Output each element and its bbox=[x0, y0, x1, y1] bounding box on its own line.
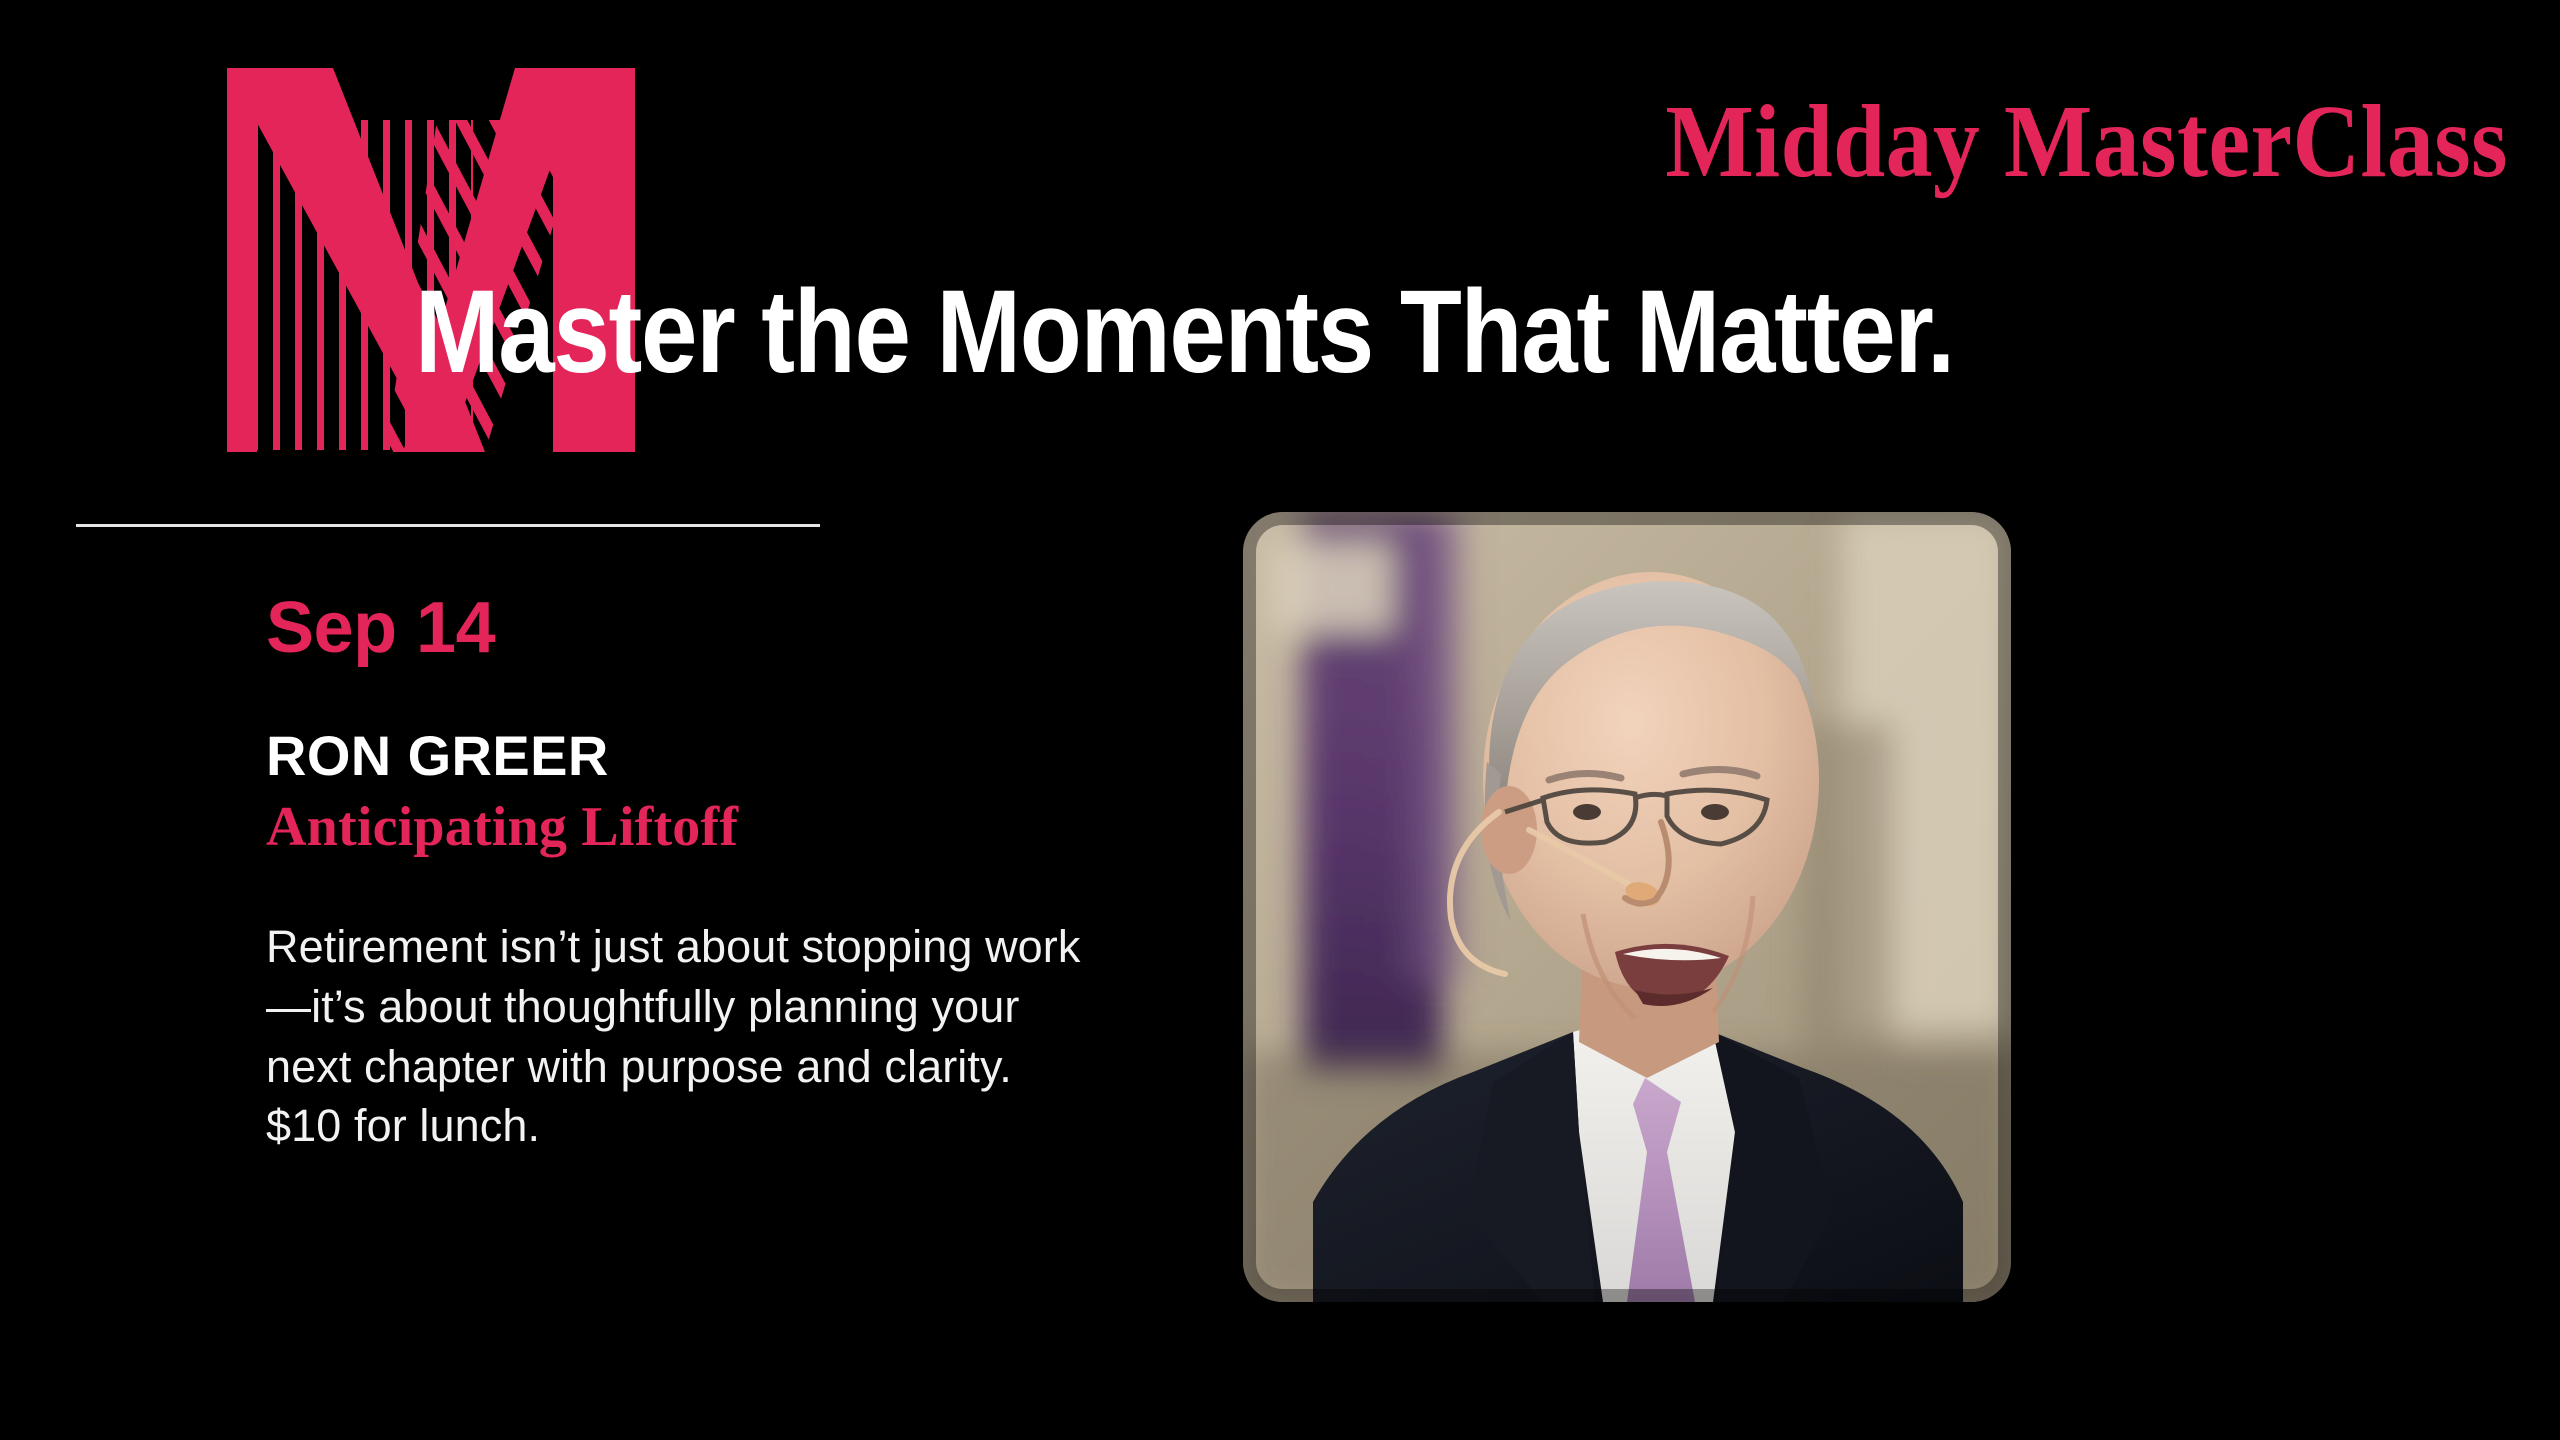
page-title: Master the Moments That Matter. bbox=[415, 272, 2238, 392]
speaker-name: RON GREER bbox=[266, 726, 1126, 785]
speaker-portrait-photo bbox=[1243, 512, 2011, 1302]
brand-eyebrow: Midday MasterClass bbox=[1230, 90, 2508, 194]
presentation-slide: Midday MasterClass Master the Moments Th… bbox=[0, 0, 2560, 1440]
session-description: Retirement isn’t just about stopping wor… bbox=[266, 917, 1086, 1156]
session-info-block: Sep 14 RON GREER Anticipating Liftoff Re… bbox=[266, 592, 1126, 1156]
event-date: Sep 14 bbox=[266, 592, 1126, 664]
session-title: Anticipating Liftoff bbox=[266, 797, 1126, 859]
logo-left-stem bbox=[227, 68, 257, 452]
horizontal-divider bbox=[76, 524, 820, 527]
